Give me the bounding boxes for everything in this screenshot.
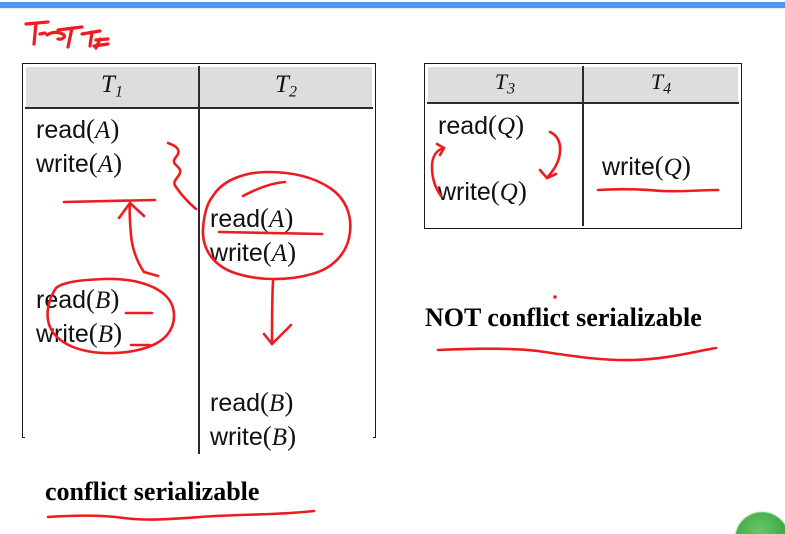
op-write-b-t1: write(B) [36, 317, 198, 351]
op-read-b-t2: read(B) [210, 386, 372, 420]
handwritten-t1-arrow-t2-annotation [20, 10, 150, 58]
table-row: read(A) write(A) [26, 180, 373, 269]
table-row: read(B) write(B) [26, 350, 373, 454]
op-write-q-t4: write(Q) [602, 150, 738, 184]
cell-t2-block-1 [199, 108, 373, 180]
cell-t2-block-3 [199, 269, 373, 350]
op-write-a-t2: write(A) [210, 236, 372, 270]
cell-t1-block-4 [26, 350, 200, 454]
schedule-table-1-frame: T1 T2 read(A) write(A) [22, 63, 376, 438]
op-write-q-t3: write(Q) [438, 175, 582, 209]
table-row: read(B) write(B) [26, 269, 373, 350]
t4-subscript: 4 [663, 80, 671, 97]
op-write-b-t2: write(B) [210, 420, 372, 454]
t1-subscript: 1 [115, 83, 123, 100]
t3-subscript: 3 [507, 80, 515, 97]
t2-subscript: 2 [289, 83, 297, 100]
op-write-a-t1: write(A) [36, 147, 198, 181]
cell-t1-block-1: read(A) write(A) [26, 108, 200, 180]
t3-label: T [495, 69, 507, 94]
cell-t1-block-2 [26, 180, 200, 269]
schedule-table-2: T3 T4 read(Q) write(Q) [427, 66, 739, 226]
green-circle-badge[interactable] [735, 512, 785, 534]
table-row: read(Q) write(Q) write(Q) [428, 103, 739, 225]
t1-label: T [101, 71, 115, 98]
slide-canvas: T1 T2 read(A) write(A) [0, 0, 785, 534]
cell-t4-block: write(Q) [583, 103, 739, 225]
op-read-q-t3: read(Q) [438, 109, 582, 143]
cell-t1-block-3: read(B) write(B) [26, 269, 200, 350]
table-header-row: T1 T2 [26, 67, 373, 109]
table-row: read(A) write(A) [26, 108, 373, 180]
cell-t3-block: read(Q) write(Q) [428, 103, 584, 225]
schedule-table-1: T1 T2 read(A) write(A) [25, 66, 373, 454]
cell-t2-block-4: read(B) write(B) [199, 350, 373, 454]
op-read-a-t2: read(A) [210, 202, 372, 236]
schedule-table-2-frame: T3 T4 read(Q) write(Q) [424, 63, 742, 229]
column-header-t1: T1 [26, 67, 200, 109]
column-header-t2: T2 [199, 67, 373, 109]
column-header-t4: T4 [583, 67, 739, 104]
table-header-row: T3 T4 [428, 67, 739, 104]
caption-not-conflict-serializable: NOT conflict serializable [425, 303, 702, 333]
cell-t2-block-2: read(A) write(A) [199, 180, 373, 269]
op-read-a-t1: read(A) [36, 113, 198, 147]
column-header-t3: T3 [428, 67, 584, 104]
op-read-b-t1: read(B) [36, 283, 198, 317]
t2-label: T [275, 71, 289, 98]
t4-label: T [651, 69, 663, 94]
caption-conflict-serializable: conflict serializable [45, 477, 259, 507]
